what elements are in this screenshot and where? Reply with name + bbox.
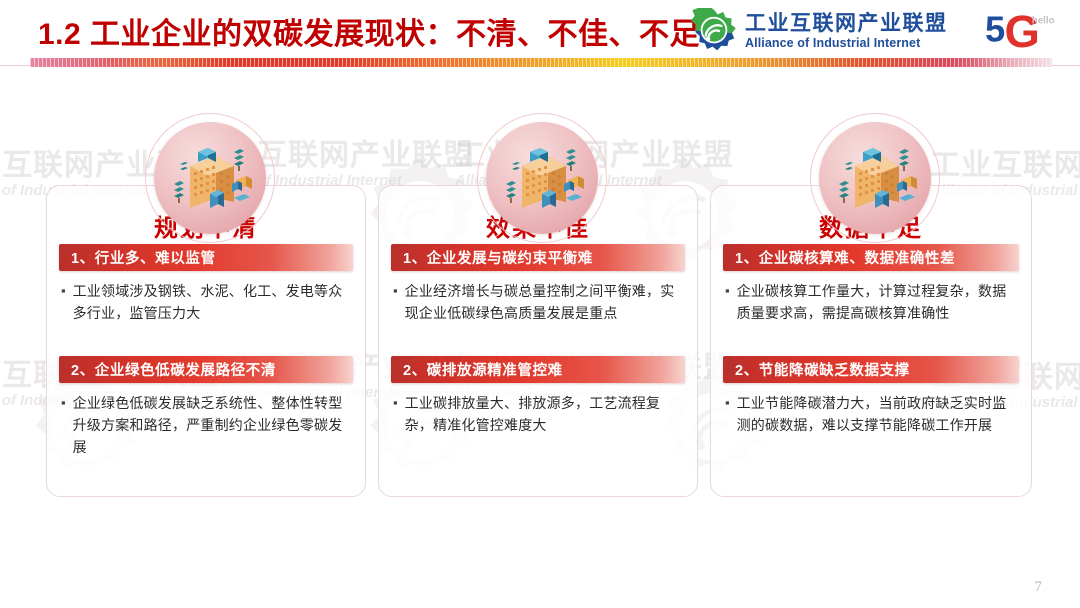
bullet-item: ▪ 企业绿色低碳发展缺乏系统性、整体性转型升级方案和路径，严重制约企业绿色零碳发… bbox=[61, 392, 351, 458]
bullet-glyph: ▪ bbox=[393, 280, 398, 324]
illustration-disc bbox=[154, 122, 266, 234]
svg-text:hello: hello bbox=[1032, 16, 1055, 27]
fiveg-hello-logo: 5 G hello bbox=[985, 6, 1063, 59]
bullet-glyph: ▪ bbox=[61, 280, 66, 324]
illustration-disc bbox=[819, 122, 931, 234]
bullet-text: 企业经济增长与碳总量控制之间平衡难，实现企业低碳绿色高质量发展是重点 bbox=[405, 280, 683, 324]
illustration-disc bbox=[486, 122, 598, 234]
section-heading-banner: 1、企业碳核算难、数据准确性差 bbox=[723, 244, 1019, 271]
section-heading-text: 2、碳排放源精准管控难 bbox=[391, 359, 563, 380]
bullet-glyph: ▪ bbox=[393, 392, 398, 436]
alliance-logo: 工业互联网产业联盟 Alliance of Industrial Interne… bbox=[690, 8, 948, 54]
bullet-item: ▪ 工业碳排放量大、排放源多，工艺流程复杂，精准化管控难度大 bbox=[393, 392, 683, 436]
section-heading-text: 2、节能降碳缺乏数据支撑 bbox=[723, 359, 910, 380]
alliance-logo-en: Alliance of Industrial Internet bbox=[745, 37, 948, 50]
bullet-glyph: ▪ bbox=[725, 392, 730, 436]
section-heading-text: 1、企业碳核算难、数据准确性差 bbox=[723, 247, 955, 268]
card-section: 2、企业绿色低碳发展路径不清 ▪ 企业绿色低碳发展缺乏系统性、整体性转型升级方案… bbox=[47, 356, 365, 458]
section-heading-text: 2、企业绿色低碳发展路径不清 bbox=[59, 359, 276, 380]
page-number: 7 bbox=[1035, 579, 1043, 596]
alliance-logo-cn: 工业互联网产业联盟 bbox=[745, 13, 948, 34]
slide-header: 1.2 工业企业的双碳发展现状：不清、不佳、不足 工业互联网产业联盟 Allia… bbox=[0, 0, 1080, 70]
section-heading-text: 1、行业多、难以监管 bbox=[59, 247, 216, 268]
card-section: 1、企业碳核算难、数据准确性差 ▪ 企业碳核算工作量大，计算过程复杂，数据质量要… bbox=[711, 244, 1031, 324]
bullet-text: 工业节能降碳潜力大，当前政府缺乏实时监测的碳数据，难以支撑节能降碳工作开展 bbox=[737, 392, 1017, 436]
bullet-text: 企业绿色低碳发展缺乏系统性、整体性转型升级方案和路径，严重制约企业绿色零碳发展 bbox=[73, 392, 351, 458]
section-heading-banner: 1、企业发展与碳约束平衡难 bbox=[391, 244, 685, 271]
bullet-glyph: ▪ bbox=[61, 392, 66, 458]
page-title: 1.2 工业企业的双碳发展现状：不清、不佳、不足 bbox=[38, 9, 700, 53]
bullet-text: 工业领域涉及钢铁、水泥、化工、发电等众多行业，监管压力大 bbox=[73, 280, 351, 324]
card-section: 1、行业多、难以监管 ▪ 工业领域涉及钢铁、水泥、化工、发电等众多行业，监管压力… bbox=[47, 244, 365, 324]
bullet-text: 工业碳排放量大、排放源多，工艺流程复杂，精准化管控难度大 bbox=[405, 392, 683, 436]
section-heading-banner: 2、碳排放源精准管控难 bbox=[391, 356, 685, 383]
card-2-illustration bbox=[477, 113, 607, 243]
section-heading-banner: 2、企业绿色低碳发展路径不清 bbox=[59, 356, 353, 383]
cards-container: 规划不清 1、行业多、难以监管 ▪ 工业领域涉及钢铁、水泥、化工、发电等众多行业… bbox=[0, 0, 1080, 608]
bullet-item: ▪ 工业领域涉及钢铁、水泥、化工、发电等众多行业，监管压力大 bbox=[61, 280, 351, 324]
5g-hello-icon: 5 G hello bbox=[985, 6, 1063, 54]
bullet-item: ▪ 企业碳核算工作量大，计算过程复杂，数据质量要求高，需提高碳核算准确性 bbox=[725, 280, 1017, 324]
industrial-plant-isometric-icon bbox=[154, 122, 266, 234]
card-section: 1、企业发展与碳约束平衡难 ▪ 企业经济增长与碳总量控制之间平衡难，实现企业低碳… bbox=[379, 244, 697, 324]
gear-wifi-logo-icon bbox=[690, 8, 738, 54]
card-1-illustration bbox=[145, 113, 275, 243]
bullet-text: 企业碳核算工作量大，计算过程复杂，数据质量要求高，需提高碳核算准确性 bbox=[737, 280, 1017, 324]
svg-text:G: G bbox=[1005, 6, 1040, 54]
industrial-plant-isometric-icon bbox=[819, 122, 931, 234]
card-3-illustration bbox=[810, 113, 940, 243]
section-heading-banner: 2、节能降碳缺乏数据支撑 bbox=[723, 356, 1019, 383]
industrial-plant-isometric-icon bbox=[486, 122, 598, 234]
card-section: 2、碳排放源精准管控难 ▪ 工业碳排放量大、排放源多，工艺流程复杂，精准化管控难… bbox=[379, 356, 697, 436]
bullet-item: ▪ 企业经济增长与碳总量控制之间平衡难，实现企业低碳绿色高质量发展是重点 bbox=[393, 280, 683, 324]
card-section: 2、节能降碳缺乏数据支撑 ▪ 工业节能降碳潜力大，当前政府缺乏实时监测的碳数据，… bbox=[711, 356, 1031, 436]
bullet-item: ▪ 工业节能降碳潜力大，当前政府缺乏实时监测的碳数据，难以支撑节能降碳工作开展 bbox=[725, 392, 1017, 436]
section-heading-banner: 1、行业多、难以监管 bbox=[59, 244, 353, 271]
section-heading-text: 1、企业发展与碳约束平衡难 bbox=[391, 247, 593, 268]
svg-text:5: 5 bbox=[985, 9, 1005, 50]
bullet-glyph: ▪ bbox=[725, 280, 730, 324]
band-fade-overlay bbox=[30, 58, 1052, 67]
